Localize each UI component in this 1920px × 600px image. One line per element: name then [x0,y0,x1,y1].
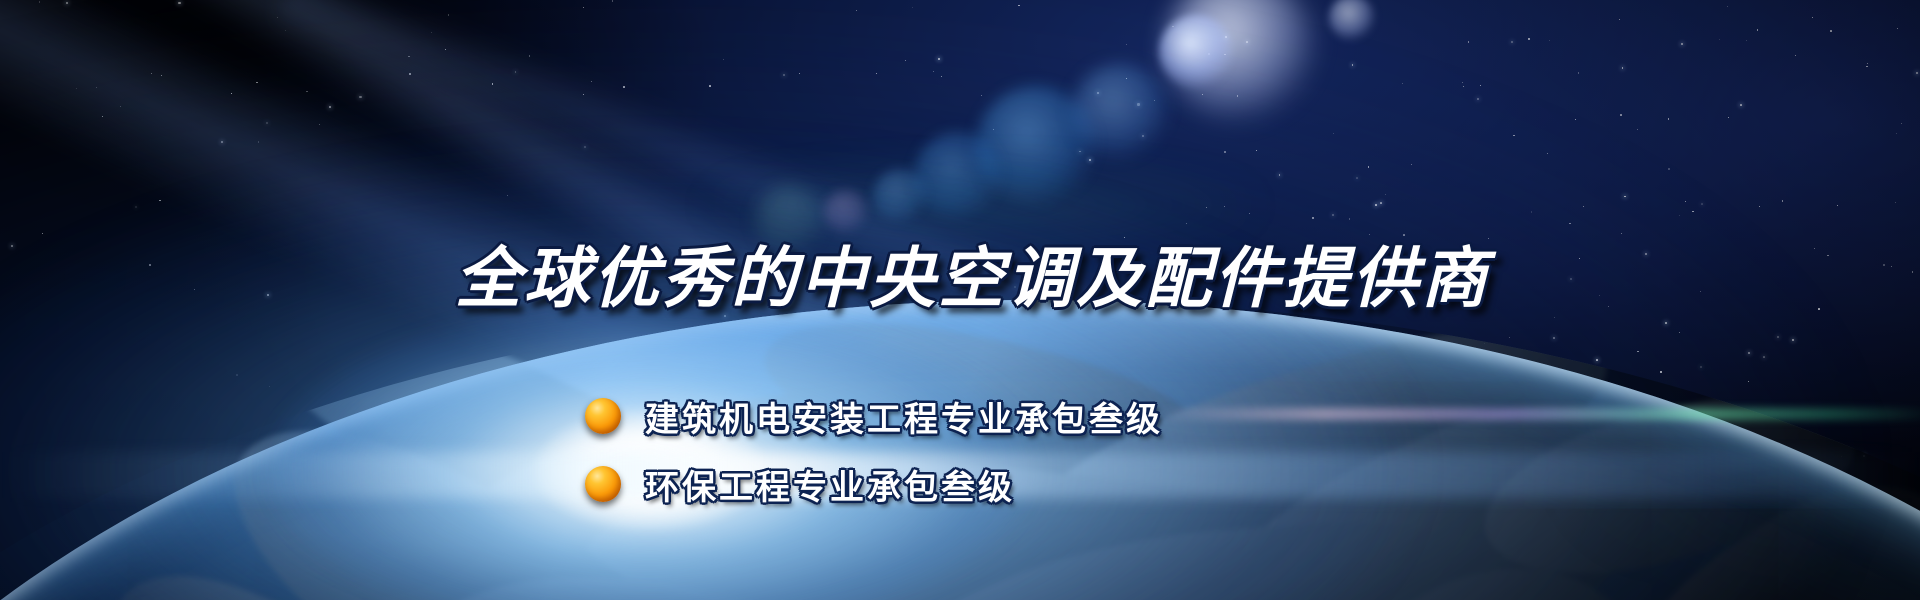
banner-headline: 全球优秀的中央空调及配件提供商 [455,246,1490,312]
orange-dot-icon [585,398,621,434]
bullet-label: 建筑机电安装工程专业承包叁级 [645,392,1163,441]
list-item: 建筑机电安装工程专业承包叁级 [585,388,1163,444]
banner-content: 全球优秀的中央空调及配件提供商 建筑机电安装工程专业承包叁级 环保工程专业承包叁… [0,0,1920,600]
hero-banner: 全球优秀的中央空调及配件提供商 建筑机电安装工程专业承包叁级 环保工程专业承包叁… [0,0,1920,600]
list-item: 环保工程专业承包叁级 [585,456,1163,512]
bullet-label: 环保工程专业承包叁级 [645,460,1015,509]
banner-bullet-list: 建筑机电安装工程专业承包叁级 环保工程专业承包叁级 [585,388,1163,524]
orange-dot-icon [585,466,621,502]
